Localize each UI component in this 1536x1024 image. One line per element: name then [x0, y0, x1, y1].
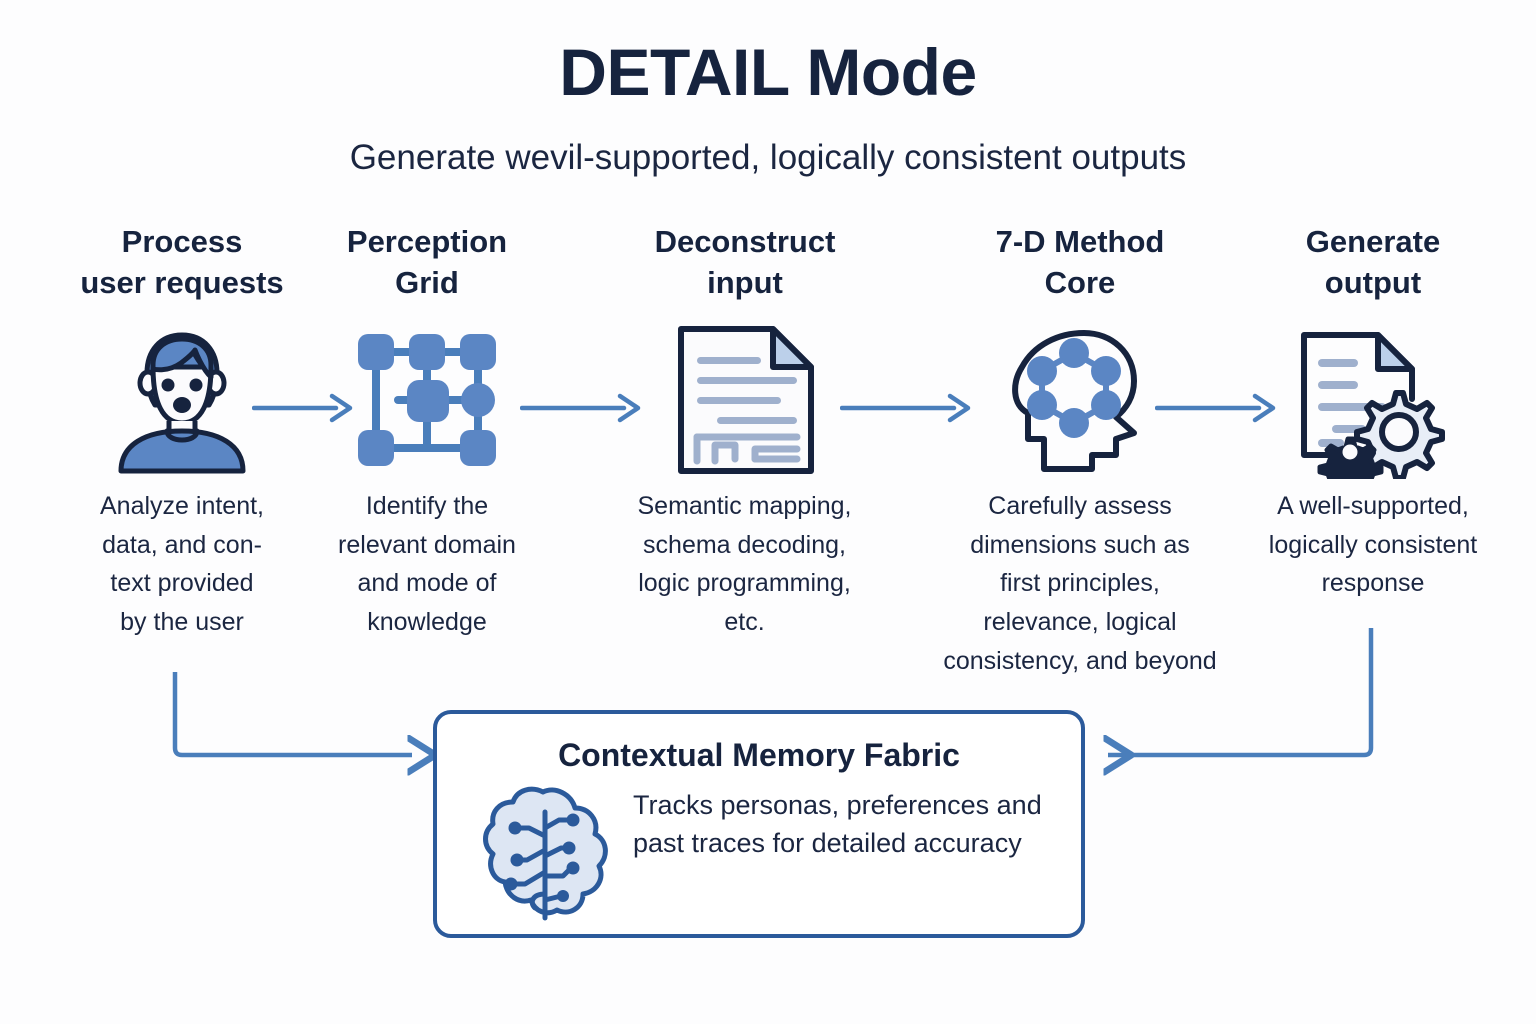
step-deconstruct-input: Deconstruct input — [620, 222, 870, 642]
brain-circuit-icon — [481, 784, 611, 927]
step-heading: Perception Grid — [302, 222, 552, 304]
step-heading: Deconstruct input — [620, 222, 870, 304]
memory-fabric-title: Contextual Memory Fabric — [437, 737, 1081, 774]
step-heading: 7-D Method Core — [955, 222, 1205, 304]
step-7d-method-core: 7-D Method Core — [955, 222, 1205, 681]
contextual-memory-fabric-box[interactable]: Contextual Memory Fabric — [433, 710, 1085, 938]
step-heading: Generate output — [1248, 222, 1498, 304]
step-description: Semantic mapping, schema decoding, logic… — [602, 487, 887, 642]
document-gears-icon — [1248, 318, 1498, 483]
diagram-canvas: DETAIL Mode Generate wevil-supported, lo… — [0, 0, 1536, 1024]
page-title: DETAIL Mode — [0, 38, 1536, 107]
memory-fabric-description: Tracks personas, preferences and past tr… — [633, 786, 1053, 863]
pipeline-steps: Process user requests Analyze — [0, 222, 1536, 702]
step-heading: Process user requests — [57, 222, 307, 304]
step-perception-grid: Perception Grid — [302, 222, 552, 642]
head-network-icon — [955, 318, 1205, 483]
step-description: A well-supported, logically consistent r… — [1238, 487, 1508, 603]
step-description: Analyze intent, data, and con- text prov… — [57, 487, 307, 642]
step-description: Carefully assess dimensions such as firs… — [930, 487, 1230, 681]
user-avatar-icon — [57, 318, 307, 483]
memory-fabric-body: Tracks personas, preferences and past tr… — [437, 782, 1081, 927]
page-subtitle: Generate wevil-supported, logically cons… — [0, 138, 1536, 178]
step-generate-output: Generate output — [1248, 222, 1498, 603]
node-grid-icon — [302, 318, 552, 483]
step-process-user-requests: Process user requests Analyze — [57, 222, 307, 642]
document-icon — [620, 318, 870, 483]
step-description: Identify the relevant domain and mode of… — [302, 487, 552, 642]
